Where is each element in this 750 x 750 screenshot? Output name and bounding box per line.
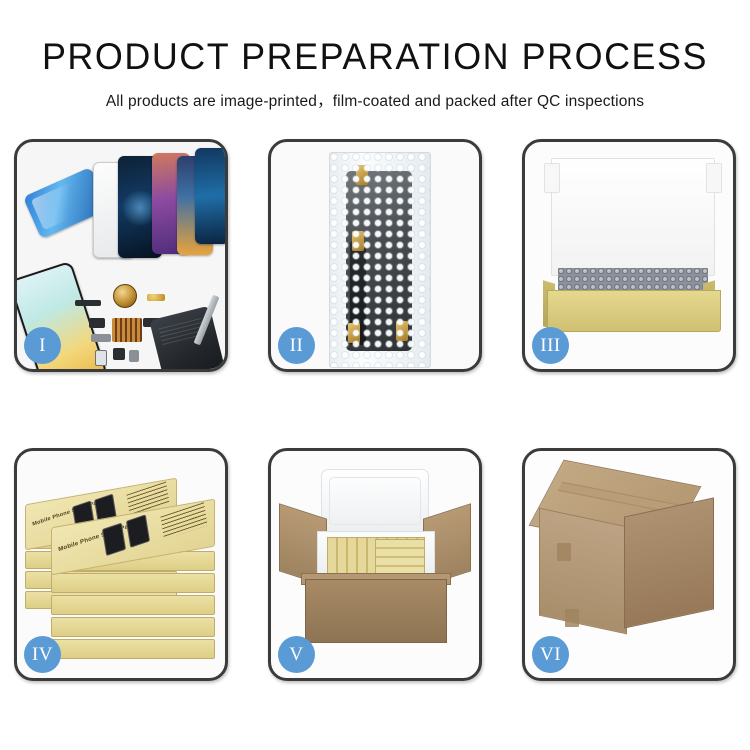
process-step-panel-4[interactable]: Mobile Phone Spare Parts Mobile Phone Sp… — [14, 448, 228, 681]
box-spec-lines-front — [160, 502, 207, 540]
small-part-4 — [91, 334, 111, 342]
small-part-1 — [75, 300, 101, 306]
process-step-panel-2[interactable]: II — [268, 139, 482, 372]
step-badge-2: II — [278, 327, 315, 364]
process-step-panel-6[interactable]: VI — [522, 448, 736, 681]
wrapped-screen-assembly — [346, 171, 412, 351]
gold-connector-bottom-right — [396, 321, 408, 341]
page-subtitle: All products are image-printed，film-coat… — [0, 89, 750, 111]
small-part-2 — [147, 294, 165, 301]
carton-tape-lower — [565, 609, 579, 627]
page-title: PRODUCT PREPARATION PROCESS — [11, 38, 739, 75]
step-badge-3: III — [532, 327, 569, 364]
stack-slab-9 — [51, 639, 215, 659]
carton-tape-upper — [557, 543, 571, 561]
styrofoam-lid — [321, 469, 429, 533]
step-badge-6: VI — [532, 636, 569, 673]
packed-boxes-row-2 — [375, 539, 425, 577]
carton-left-face — [539, 508, 627, 635]
small-part-3 — [89, 318, 105, 328]
white-box-lid — [551, 158, 715, 276]
box-window-front-2 — [126, 514, 150, 547]
process-step-panel-5[interactable]: V — [268, 448, 482, 681]
stack-slab-6 — [51, 573, 215, 593]
step-badge-1: I — [24, 327, 61, 364]
stack-slab-8 — [51, 617, 215, 637]
small-part-6 — [129, 350, 139, 362]
step-badge-4: IV — [24, 636, 61, 673]
process-step-panel-3[interactable]: III — [522, 139, 736, 372]
flex-cable — [350, 241, 366, 345]
process-step-grid: I II III — [14, 139, 736, 681]
gold-connector-mid — [352, 231, 364, 251]
carton-front-wall — [305, 579, 447, 643]
carton-right-face — [624, 497, 714, 628]
step-badge-5: V — [278, 636, 315, 673]
kraft-box-front — [547, 290, 721, 332]
small-part-5 — [113, 348, 125, 360]
gold-connector-bottom-left — [348, 323, 360, 343]
speaker-coil-component — [113, 284, 137, 308]
chip-array-component — [112, 318, 142, 342]
page-header: PRODUCT PREPARATION PROCESS All products… — [0, 0, 750, 111]
small-part-8 — [95, 350, 107, 366]
gold-connector-top — [356, 165, 368, 185]
box-window-front-1 — [102, 523, 126, 556]
phone-blue-swirl — [195, 148, 225, 244]
stack-slab-7 — [51, 595, 215, 615]
bubble-wrap-bag — [329, 152, 431, 368]
process-step-panel-1[interactable]: I — [14, 139, 228, 372]
phone-back-housing — [149, 306, 225, 369]
